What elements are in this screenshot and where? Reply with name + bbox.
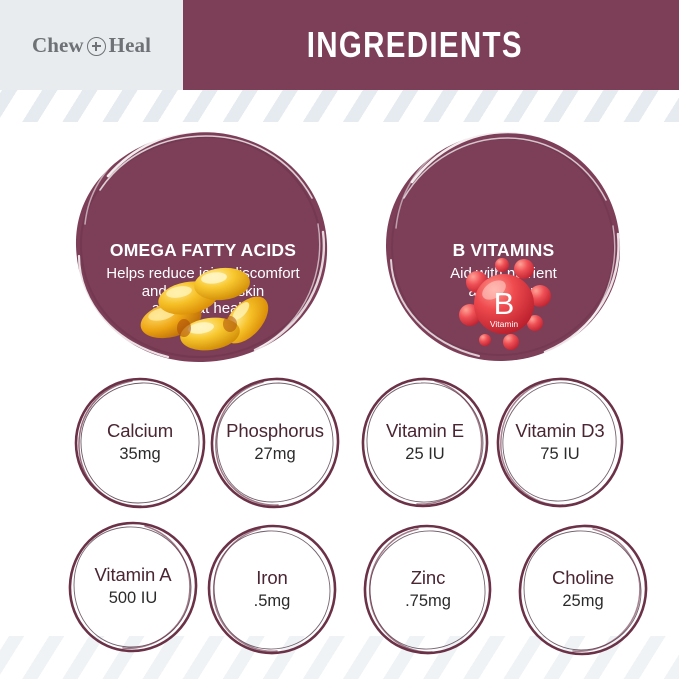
page-title: INGREDIENTS (307, 24, 523, 66)
nutrient-label-group: Zinc .75mg (358, 567, 498, 611)
nutrient-value: 25mg (513, 592, 653, 611)
nutrient-circle-zinc: Zinc .75mg (358, 521, 498, 659)
highlight-title-omega: OMEGA FATTY ACIDS (110, 240, 296, 261)
nutrient-name: Vitamin D3 (490, 420, 630, 442)
nutrient-value: 25 IU (355, 445, 495, 464)
vitamin-letter-label: B (493, 286, 514, 321)
brand-logo-panel: Chew Heal (0, 0, 183, 90)
nutrient-label-group: Vitamin E 25 IU (355, 420, 495, 464)
nutrient-name: Calcium (70, 420, 210, 442)
plus-in-circle-icon (87, 37, 106, 56)
nutrient-label-group: Calcium 35mg (70, 420, 210, 464)
nutrient-value: 35mg (70, 445, 210, 464)
nutrient-name: Choline (513, 567, 653, 589)
nutrient-value: 500 IU (63, 589, 203, 608)
nutrient-name: Vitamin E (355, 420, 495, 442)
nutrient-label-group: Choline 25mg (513, 567, 653, 611)
nutrient-value: .5mg (202, 592, 342, 611)
nutrient-name: Iron (202, 567, 342, 589)
nutrient-circle-choline: Choline 25mg (513, 521, 653, 659)
nutrient-value: 27mg (205, 445, 345, 464)
nutrient-label-group: Iron .5mg (202, 567, 342, 611)
header-title-band: INGREDIENTS (183, 0, 679, 90)
nutrient-label-group: Vitamin D3 75 IU (490, 420, 630, 464)
page-header: Chew Heal INGREDIENTS (0, 0, 679, 90)
nutrient-circle-phosphorus: Phosphorus 27mg (205, 374, 345, 512)
brand-logo-word-right: Heal (109, 33, 151, 58)
nutrient-name: Zinc (358, 567, 498, 589)
nutrient-name: Vitamin A (63, 564, 203, 586)
brand-logo: Chew Heal (32, 33, 151, 58)
fish-oil-softgel-capsules-icon (128, 262, 278, 360)
nutrient-circle-vitamin-e: Vitamin E 25 IU (355, 374, 495, 512)
ingredients-infographic: Chew Heal INGREDIENTS (0, 0, 679, 679)
nutrient-circle-vitamin-d3: Vitamin D3 75 IU (490, 374, 630, 512)
nutrient-circle-iron: Iron .5mg (202, 521, 342, 659)
vitamin-b-molecule-icon: B Vitamin (445, 252, 563, 356)
nutrient-name: Phosphorus (205, 420, 345, 442)
brand-logo-word-left: Chew (32, 33, 84, 58)
nutrient-value: .75mg (358, 592, 498, 611)
nutrient-circle-vitamin-a: Vitamin A 500 IU (63, 518, 203, 656)
highlight-card-b-vitamins: B Vitamin B VITAMINS Aid with nutrient a… (382, 128, 625, 366)
vitamin-caption-label: Vitamin (489, 319, 517, 329)
nutrient-value: 75 IU (490, 445, 630, 464)
nutrient-label-group: Phosphorus 27mg (205, 420, 345, 464)
nutrient-label-group: Vitamin A 500 IU (63, 564, 203, 608)
highlight-card-omega-fatty-acids: OMEGA FATTY ACIDS Helps reduce joint dis… (72, 128, 334, 368)
diagonal-stripe-band-top (0, 88, 679, 122)
nutrient-circle-calcium: Calcium 35mg (70, 374, 210, 512)
